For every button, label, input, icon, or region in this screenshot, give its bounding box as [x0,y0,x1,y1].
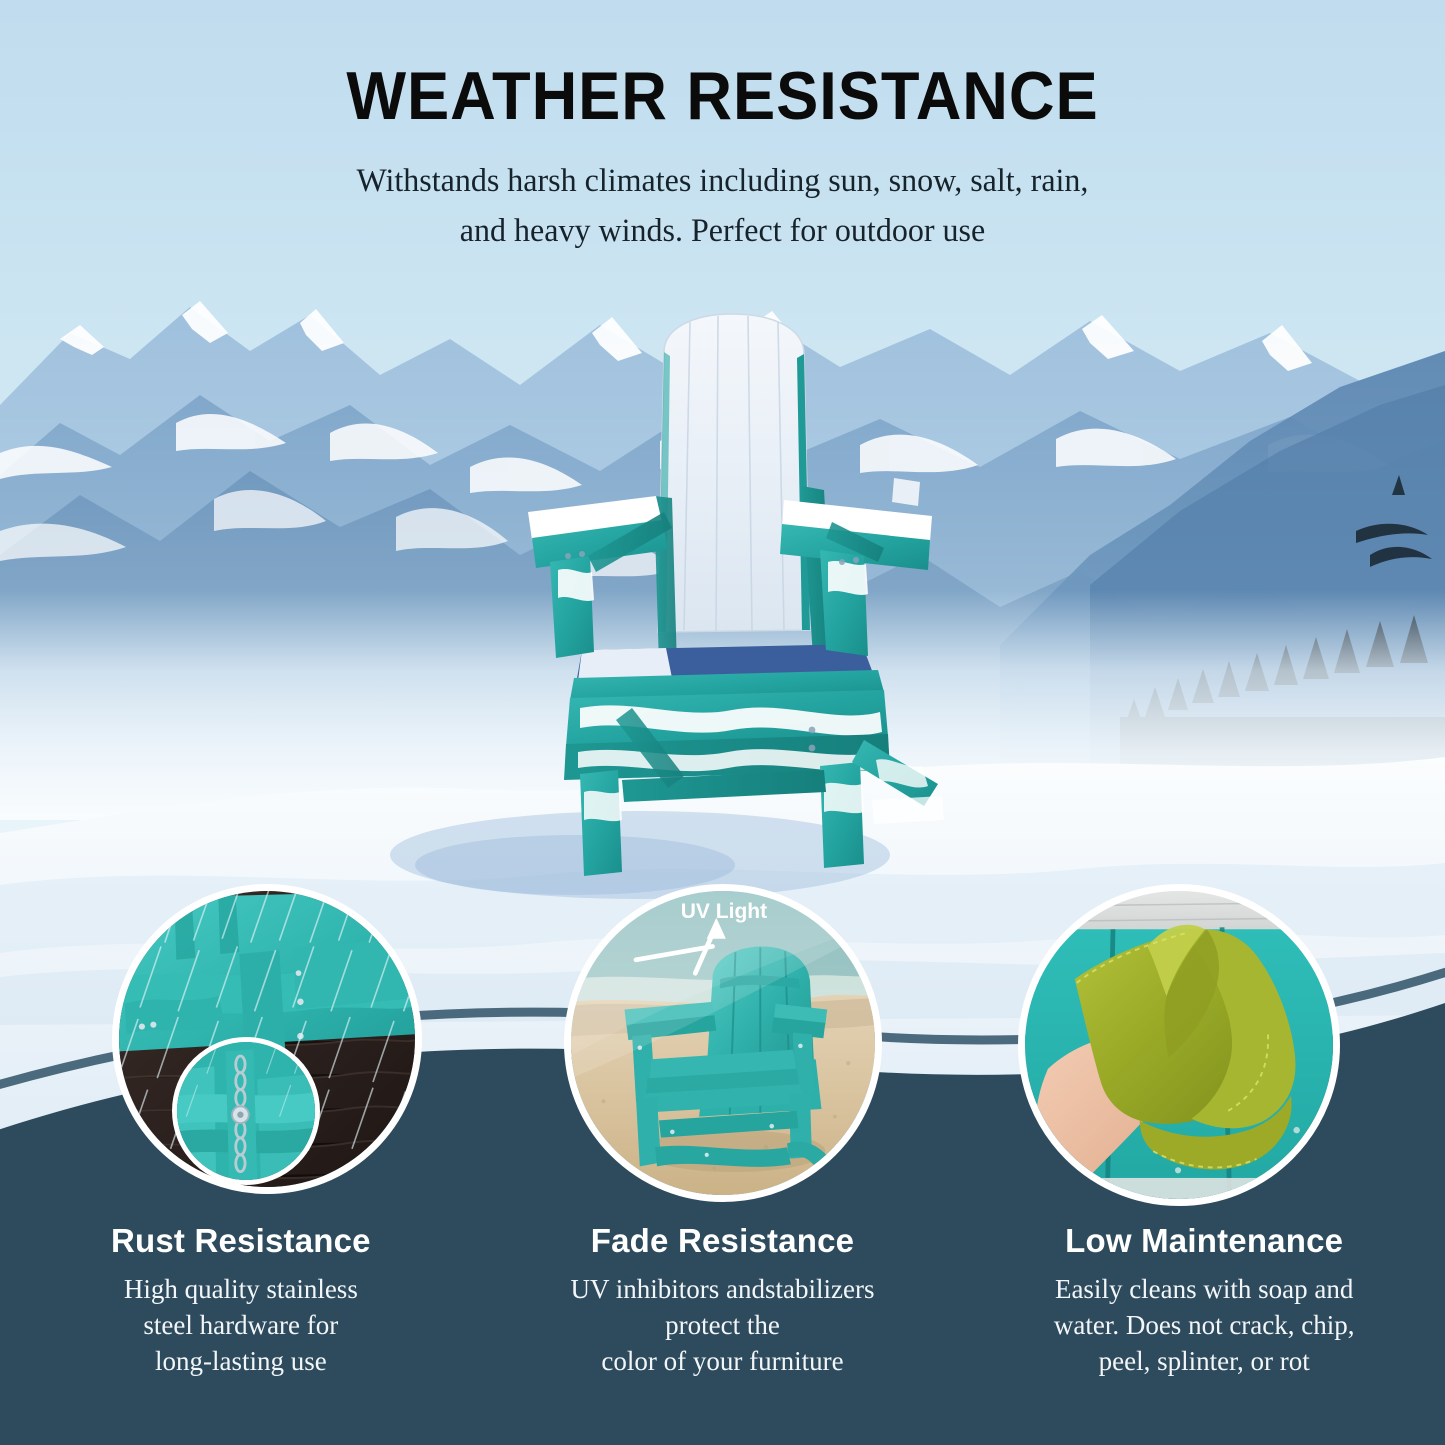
feature-column-rust-resistance: Rust Resistance High quality stainless s… [0,1222,482,1422]
feature-column-low-maintenance: Low Maintenance Easily cleans with soap … [963,1222,1445,1422]
feature-body-line-2: water. Does not crack, chip, [981,1308,1427,1344]
page-title: WEATHER RESISTANCE [51,62,1395,131]
subtitle-line-1: Withstands harsh climates including sun,… [22,157,1424,207]
feature-columns: Rust Resistance High quality stainless s… [0,1222,1445,1422]
feature-body-fade-resistance: UV inhibitors andstabilizers protect the… [500,1272,946,1380]
feature-body-rust-resistance: High quality stainless steel hardware fo… [18,1272,464,1380]
feature-body-line-1: UV inhibitors andstabilizers [500,1272,946,1308]
fade-resistance-circle-image: UV Light [564,884,882,1202]
feature-body-line-3: peel, splinter, or rot [981,1344,1427,1380]
stainless-hardware-inset-image [172,1037,320,1185]
feature-column-fade-resistance: Fade Resistance UV inhibitors andstabili… [482,1222,964,1422]
low-maintenance-circle-image [1018,884,1340,1206]
feature-title-low-maintenance: Low Maintenance [981,1222,1427,1260]
feature-body-line-2: steel hardware for [18,1308,464,1344]
feature-body-low-maintenance: Easily cleans with soap and water. Does … [981,1272,1427,1380]
uv-light-label: UV Light [681,900,767,923]
feature-title-rust-resistance: Rust Resistance [18,1222,464,1260]
feature-body-line-1: High quality stainless [18,1272,464,1308]
infographic-canvas: WEATHER RESISTANCE Withstands harsh clim… [0,0,1445,1445]
feature-body-line-3: long-lasting use [18,1344,464,1380]
feature-body-line-2: protect the [500,1308,946,1344]
feature-body-line-1: Easily cleans with soap and [981,1272,1427,1308]
feature-title-fade-resistance: Fade Resistance [500,1222,946,1260]
subtitle-line-2: and heavy winds. Perfect for outdoor use [22,207,1424,257]
feature-body-line-3: color of your furniture [500,1344,946,1380]
hero-chair-image [432,300,992,890]
header-block: WEATHER RESISTANCE Withstands harsh clim… [0,62,1445,256]
page-subtitle: Withstands harsh climates including sun,… [22,157,1424,256]
